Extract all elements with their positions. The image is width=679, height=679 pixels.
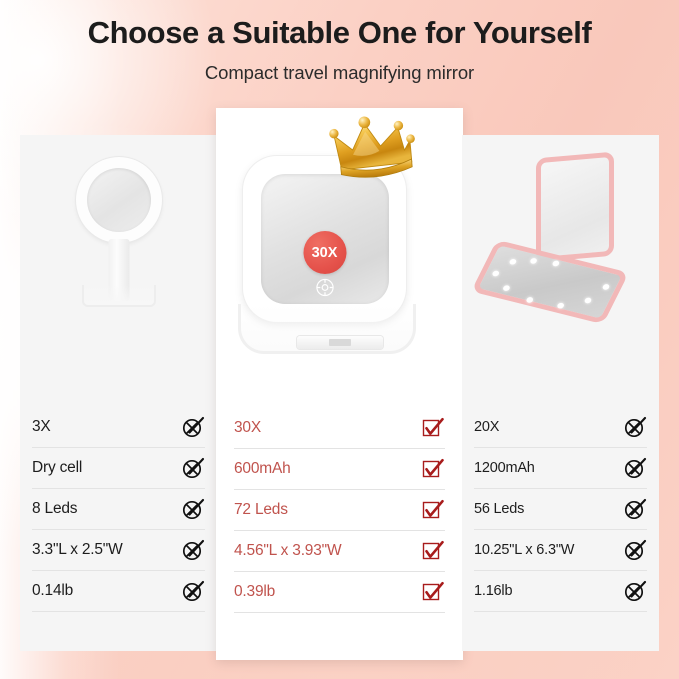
- led-light: [584, 297, 593, 304]
- led-light: [509, 258, 518, 265]
- spec-row: 3.3"L x 2.5"W: [32, 530, 205, 571]
- spec-label: 4.56"L x 3.93"W: [234, 542, 341, 560]
- square-mirror-hinge-core: [329, 339, 351, 346]
- spec-label: 30X: [234, 419, 261, 437]
- round-mirror-glass: [87, 168, 151, 232]
- spec-label: 0.14lb: [32, 582, 73, 600]
- led-light: [529, 257, 538, 264]
- spec-row: 0.14lb: [32, 571, 205, 612]
- page-subtitle: Compact travel magnifying mirror: [0, 62, 679, 84]
- header: Choose a Suitable One for Yourself Compa…: [0, 0, 679, 84]
- spec-label: 8 Leds: [32, 500, 77, 518]
- checkbox-checked-icon: [421, 539, 445, 563]
- spec-label: 3X: [32, 418, 51, 436]
- led-light: [525, 297, 534, 304]
- compact-mirror-lid: [536, 152, 614, 263]
- spec-label: 72 Leds: [234, 501, 288, 519]
- checkbox-checked-icon: [421, 416, 445, 440]
- spec-row: 0.39lb: [234, 572, 445, 613]
- product-image-square-mirror: 30X: [216, 108, 463, 408]
- no-entry-crossed-icon: [623, 415, 647, 439]
- no-entry-crossed-icon: [181, 497, 205, 521]
- no-entry-crossed-icon: [623, 497, 647, 521]
- spec-row: 3X: [32, 407, 205, 448]
- product-column-left[interactable]: 3XDry cell8 Leds3.3"L x 2.5"W0.14lb: [20, 135, 217, 651]
- checkbox-checked-icon: [421, 457, 445, 481]
- spec-row: 8 Leds: [32, 489, 205, 530]
- led-light: [491, 270, 500, 277]
- crown-icon: [325, 108, 427, 188]
- no-entry-crossed-icon: [181, 538, 205, 562]
- square-mirror-glass: 30X: [261, 174, 389, 304]
- product-image-compact-mirror: [462, 135, 659, 397]
- spec-table-left: 3XDry cell8 Leds3.3"L x 2.5"W0.14lb: [20, 407, 217, 612]
- round-mirror-body: [76, 157, 162, 243]
- no-entry-crossed-icon: [623, 456, 647, 480]
- spec-label: 56 Leds: [474, 501, 524, 517]
- spec-table-center: 30X600mAh72 Leds4.56"L x 3.93"W0.39lb: [216, 408, 463, 613]
- spec-label: 20X: [474, 419, 499, 435]
- product-column-center-recommended[interactable]: 30X: [216, 108, 463, 660]
- led-light: [556, 302, 565, 309]
- spec-row: 600mAh: [234, 449, 445, 490]
- spec-row: 1.16lb: [474, 571, 647, 612]
- spec-row: 4.56"L x 3.93"W: [234, 531, 445, 572]
- spec-label: 3.3"L x 2.5"W: [32, 541, 123, 559]
- spec-row: 72 Leds: [234, 490, 445, 531]
- spec-label: 10.25"L x 6.3"W: [474, 542, 574, 558]
- spec-label: 1.16lb: [474, 583, 512, 599]
- checkbox-checked-icon: [421, 580, 445, 604]
- spec-label: 0.39lb: [234, 583, 275, 601]
- magnification-badge: 30X: [303, 231, 346, 274]
- page-title: Choose a Suitable One for Yourself: [0, 15, 679, 51]
- spec-row: 30X: [234, 408, 445, 449]
- spec-label: 1200mAh: [474, 460, 535, 476]
- spec-label: 600mAh: [234, 460, 291, 478]
- product-column-right[interactable]: 20X1200mAh56 Leds10.25"L x 6.3"W1.16lb: [462, 135, 659, 651]
- no-entry-crossed-icon: [181, 415, 205, 439]
- spec-row: Dry cell: [32, 448, 205, 489]
- no-entry-crossed-icon: [181, 456, 205, 480]
- spec-row: 20X: [474, 407, 647, 448]
- no-entry-crossed-icon: [623, 538, 647, 562]
- product-image-round-mirror: [20, 135, 217, 397]
- spec-label: Dry cell: [32, 459, 82, 477]
- spec-table-right: 20X1200mAh56 Leds10.25"L x 6.3"W1.16lb: [462, 407, 659, 612]
- spec-row: 56 Leds: [474, 489, 647, 530]
- brightness-icon[interactable]: [315, 278, 334, 297]
- led-light: [552, 260, 561, 267]
- led-light: [502, 285, 511, 292]
- led-light: [602, 284, 611, 291]
- no-entry-crossed-icon: [181, 579, 205, 603]
- checkbox-checked-icon: [421, 498, 445, 522]
- spec-row: 1200mAh: [474, 448, 647, 489]
- spec-row: 10.25"L x 6.3"W: [474, 530, 647, 571]
- round-mirror-stand: [82, 285, 156, 307]
- no-entry-crossed-icon: [623, 579, 647, 603]
